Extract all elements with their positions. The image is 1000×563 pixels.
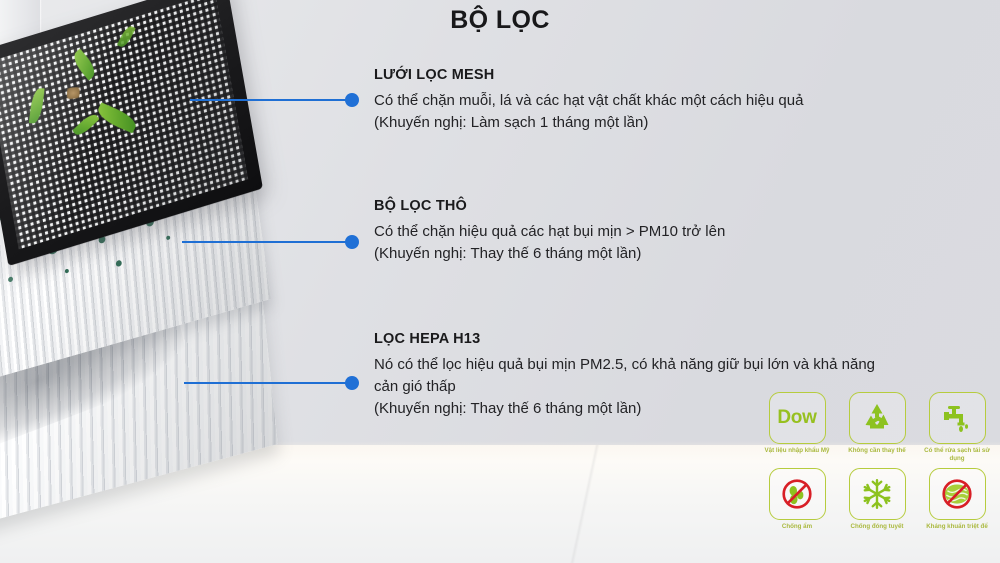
- callout-dot-mesh: [345, 93, 359, 107]
- dow-logo-icon: Dow: [777, 407, 816, 429]
- page-title: BỘ LỌC: [0, 6, 1000, 35]
- badge-frost-proof[interactable]: Chống đóng tuyết: [842, 468, 912, 531]
- section-heading: BỘ LỌC THÔ: [374, 198, 974, 214]
- badge-box: Dow: [769, 392, 826, 444]
- no-bacteria-icon: [939, 477, 975, 511]
- callout-dot-coarse: [345, 235, 359, 249]
- badge-no-replacement[interactable]: Không cần thay thế: [842, 392, 912, 464]
- section-heading: LỌC HEPA H13: [374, 331, 974, 347]
- badge-box: [769, 468, 826, 520]
- section-mesh-filter: LƯỚI LỌC MESH Có thể chặn muỗi, lá và cá…: [374, 67, 974, 134]
- snowflake-icon: [859, 477, 895, 511]
- badge-box: [929, 392, 986, 444]
- badge-antibacterial[interactable]: Kháng khuẩn triệt để: [922, 468, 992, 531]
- section-heading: LƯỚI LỌC MESH: [374, 67, 974, 83]
- faucet-icon: [940, 402, 974, 434]
- filter-stack-image: [0, 8, 346, 478]
- badge-caption: Kháng khuẩn triệt để: [922, 523, 992, 531]
- section-line-2: (Khuyến nghị: Thay thế 6 tháng một lần): [374, 243, 974, 265]
- badge-caption: Chống đóng tuyết: [842, 523, 912, 531]
- badge-washable-reusable[interactable]: Có thể rửa sạch tái sử dụng: [922, 392, 992, 464]
- badge-dow-material[interactable]: Dow Vật liệu nhập khẩu Mỹ: [762, 392, 832, 464]
- recycle-icon: [860, 402, 894, 434]
- section-coarse-filter: BỘ LỌC THÔ Có thể chặn hiệu quả các hạt …: [374, 198, 974, 265]
- section-line-1: Có thể chặn hiệu quả các hạt bụi mịn > P…: [374, 221, 974, 243]
- section-line-2: (Khuyến nghị: Làm sạch 1 tháng một lần): [374, 112, 974, 134]
- feature-badge-grid: Dow Vật liệu nhập khẩu Mỹ Không cần thay…: [762, 392, 992, 531]
- badge-caption: Chống ẩm: [762, 523, 832, 531]
- section-line-1: Có thể chặn muỗi, lá và các hạt vật chất…: [374, 90, 974, 112]
- callout-dot-hepa: [345, 376, 359, 390]
- callout-line-mesh: [190, 99, 350, 101]
- badge-caption: Không cần thay thế: [842, 447, 912, 455]
- badge-box: [929, 468, 986, 520]
- badge-moisture-proof[interactable]: Chống ẩm: [762, 468, 832, 531]
- badge-caption: Vật liệu nhập khẩu Mỹ: [762, 447, 832, 455]
- section-line-1: Nó có thể lọc hiệu quả bụi mịn PM2.5, có…: [374, 354, 974, 376]
- badge-caption: Có thể rửa sạch tái sử dụng: [922, 447, 992, 464]
- no-moisture-icon: [779, 477, 815, 511]
- product-infographic: BỘ LỌC LƯỚI LỌC MESH Có thể chặn muỗi, l…: [0, 0, 1000, 563]
- badge-box: [849, 468, 906, 520]
- callout-line-coarse: [182, 241, 350, 243]
- badge-box: [849, 392, 906, 444]
- callout-line-hepa: [184, 382, 350, 384]
